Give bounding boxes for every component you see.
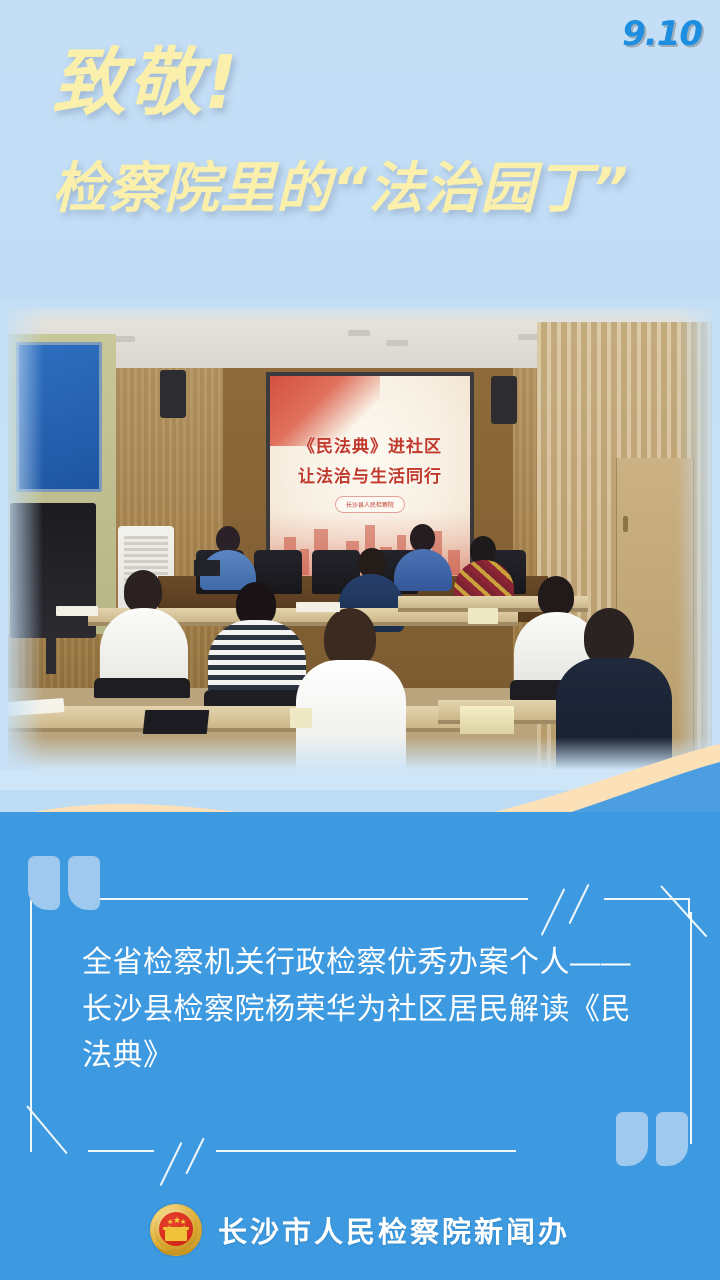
quote-frame-bottom-left (88, 1150, 154, 1152)
decor-slash (185, 1138, 204, 1175)
quote-frame-bl-chamfer (26, 1105, 67, 1154)
footer-organization: 长沙市人民检察院新闻办 (218, 1209, 570, 1251)
quote-text: 全省检察机关行政检察优秀办案个人——长沙县检察院杨荣华为社区居民解读《民法典》 (82, 940, 638, 1080)
page-title-line1: 致敬! (52, 46, 712, 120)
photo-chair (94, 678, 190, 698)
quote-frame-bottom (216, 1150, 516, 1152)
quote-frame-top-right (604, 898, 690, 900)
ceiling-fixture (113, 336, 135, 342)
decor-slash (160, 1142, 183, 1186)
photo-notebook (296, 602, 340, 612)
photo-speaker-right (491, 376, 517, 424)
photo-notebook (56, 606, 98, 616)
page-title-line2: 检察院里的“法治园丁” (52, 160, 712, 218)
poster-root: 9.10 致敬! 检察院里的“法治园丁” (0, 0, 720, 1280)
quote-frame-right (690, 912, 692, 1144)
title-block: 致敬! 检察院里的“法治园丁” (52, 46, 712, 218)
quote-frame-tr-chamfer (660, 885, 707, 937)
quote-block: 全省检察机关行政检察优秀办案个人——长沙县检察院杨荣华为社区居民解读《民法典》 (0, 852, 720, 1182)
decor-slash (568, 884, 589, 924)
ceiling-fixture (348, 330, 370, 336)
slide-title-line2: 让法治与生活同行 (270, 462, 470, 487)
quote-frame-top (80, 898, 528, 900)
ceiling-fixture (386, 340, 408, 346)
photo-laptop (194, 560, 220, 576)
slide-subtitle: 长沙县人民检察院 (335, 496, 405, 513)
photo-blue-board (16, 342, 102, 492)
decor-slash (541, 888, 566, 936)
photo-speaker-left (160, 370, 186, 418)
procuratorate-emblem-icon: ★ ★ ★ ★ ★ (150, 1204, 202, 1256)
footer: ★ ★ ★ ★ ★ 长沙市人民检察院新闻办 (0, 1204, 720, 1256)
slide-title-line1: 《民法典》进社区 (270, 432, 470, 457)
photo-monitor-stand (46, 634, 56, 674)
photo-monitor (10, 503, 96, 638)
photo-book-stack (468, 608, 498, 624)
